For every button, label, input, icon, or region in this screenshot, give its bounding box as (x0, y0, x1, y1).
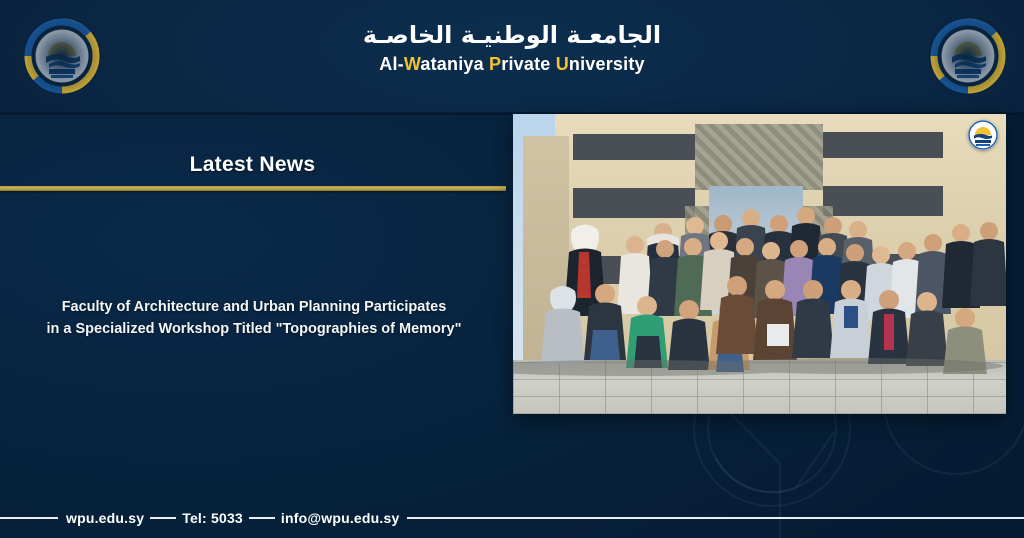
news-photo-image (513, 114, 1006, 414)
university-name-arabic: الجامعـة الوطنيـة الخاصـة (0, 20, 1024, 50)
latest-news-heading: Latest News (0, 153, 505, 177)
footer-rule-mid-1 (150, 517, 176, 519)
footer-contact-row: wpu.edu.sy Tel: 5033 info@wpu.edu.sy (0, 505, 1024, 531)
footer-rule-left (0, 517, 58, 519)
footer-email[interactable]: info@wpu.edu.sy (281, 510, 400, 526)
title-part-4: rivate (501, 54, 555, 74)
title-part-5: U (556, 54, 569, 74)
photo-crowd (513, 114, 1006, 414)
news-headline: Faculty of Architecture and Urban Planni… (0, 296, 508, 340)
university-logo-watermark-icon (968, 120, 998, 150)
header-titles: الجامعـة الوطنيـة الخاصـة Al-Wataniya Pr… (0, 20, 1024, 75)
footer-rule-right (407, 517, 1024, 519)
news-photo[interactable] (513, 114, 1006, 414)
title-part-1: W (404, 54, 421, 74)
footer-website[interactable]: wpu.edu.sy (66, 510, 144, 526)
headline-line-2: in a Specialized Workshop Titled "Topogr… (18, 318, 490, 340)
latest-news-label: Latest News (190, 153, 316, 176)
headline-line-1: Faculty of Architecture and Urban Planni… (18, 296, 490, 318)
title-part-0: Al- (379, 54, 404, 74)
university-name-english: Al-Wataniya Private University (0, 53, 1024, 75)
footer-phone[interactable]: Tel: 5033 (182, 510, 243, 526)
crowd-figures (513, 114, 1006, 414)
title-part-3: P (489, 54, 501, 74)
news-card: الجامعـة الوطنيـة الخاصـة Al-Wataniya Pr… (0, 0, 1024, 538)
photo-watermark-logo (968, 120, 998, 150)
gold-divider (0, 186, 506, 191)
footer-rule-mid-2 (249, 517, 275, 519)
title-part-2: ataniya (420, 54, 489, 74)
title-part-6: niversity (569, 54, 645, 74)
footer: wpu.edu.sy Tel: 5033 info@wpu.edu.sy (0, 505, 1024, 531)
